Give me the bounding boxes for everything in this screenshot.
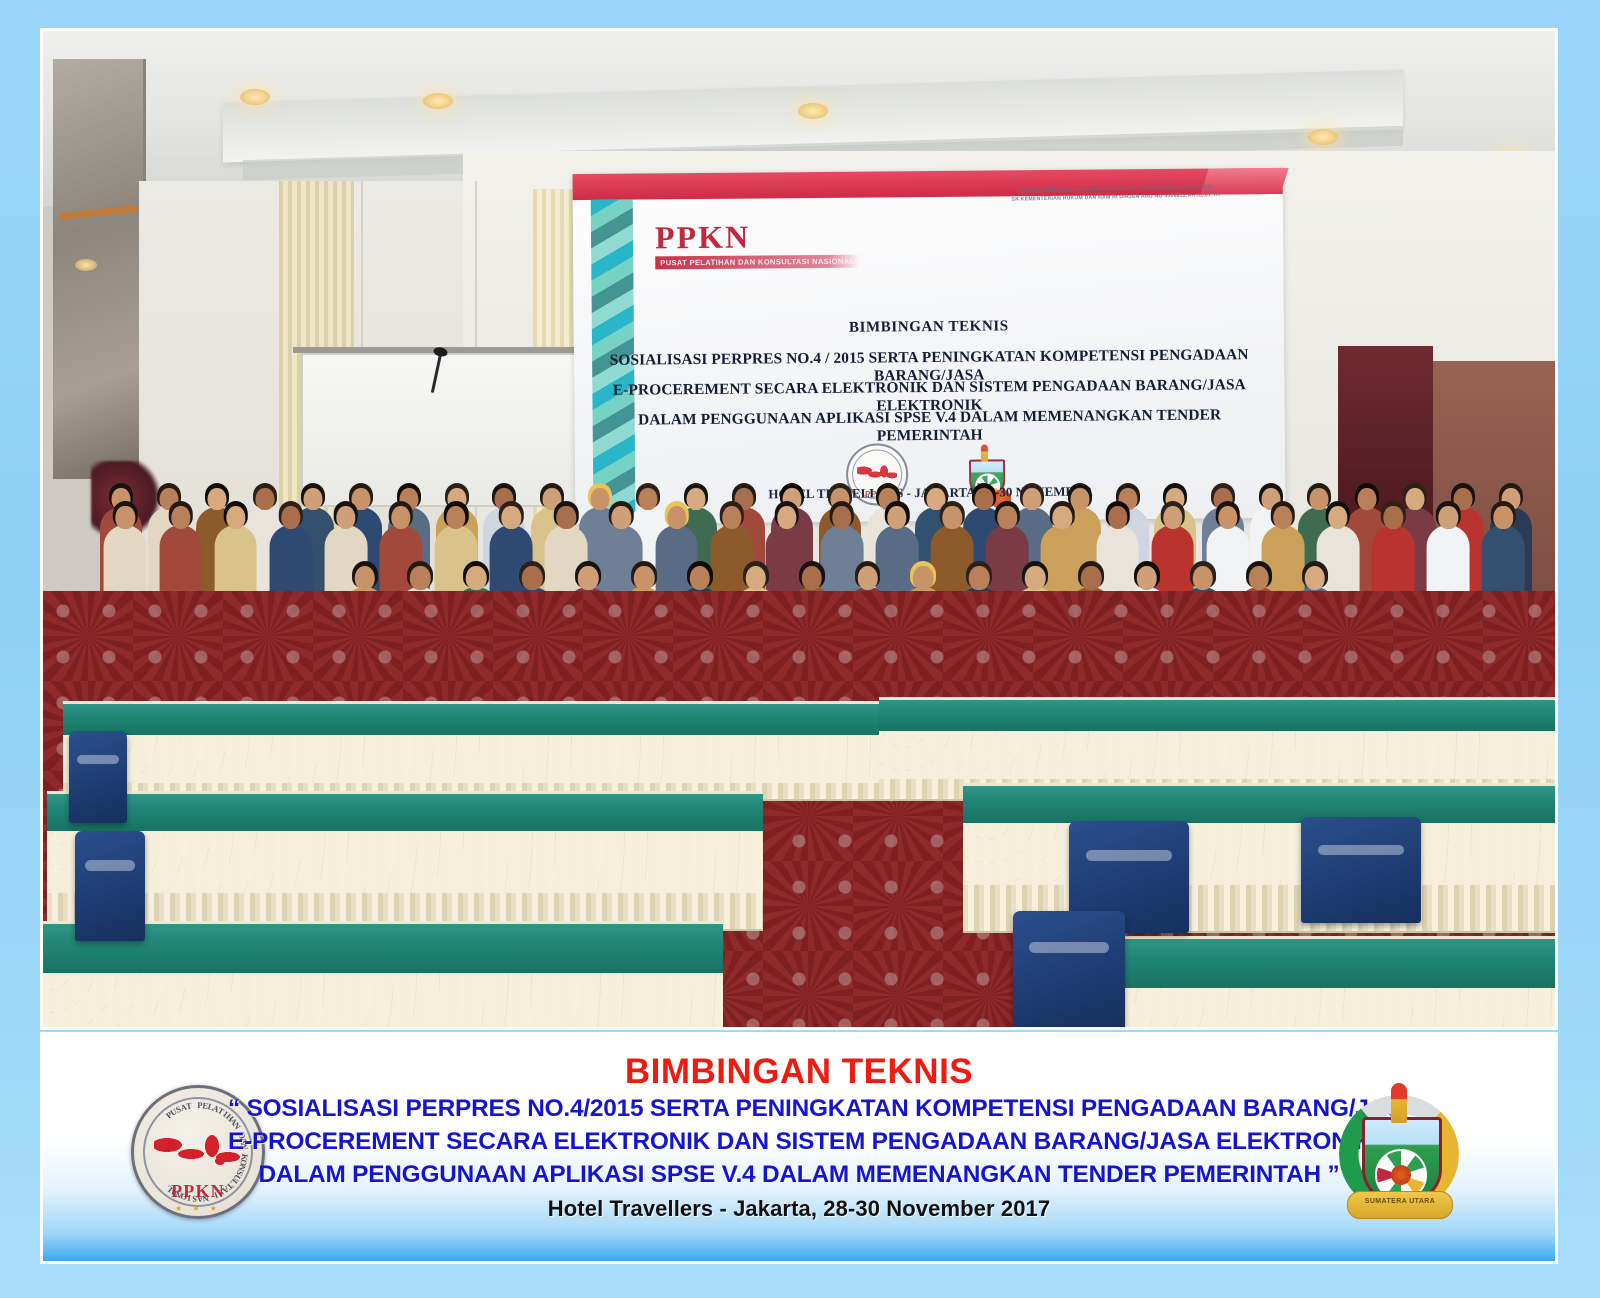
participant-face bbox=[801, 566, 822, 590]
caption-text-block: BIMBINGAN TEKNIS “ SOSIALISASI PERPRES N… bbox=[228, 1053, 1370, 1222]
participant-face bbox=[690, 566, 711, 590]
caption-panel: PUSAT PELATIHAN DAN KONSULTASI NASIONAL … bbox=[40, 1032, 1558, 1264]
participant-face bbox=[1081, 566, 1102, 590]
participant-face bbox=[466, 566, 487, 590]
chair bbox=[1301, 817, 1421, 923]
participant-face bbox=[522, 566, 543, 590]
participant-face bbox=[969, 566, 990, 590]
chair bbox=[1013, 911, 1125, 1029]
crest-scroll-text: SUMATERA UTARA bbox=[1348, 1198, 1452, 1205]
participant-face bbox=[746, 566, 767, 590]
torch-icon bbox=[1391, 1083, 1407, 1123]
crest-scroll: SUMATERA UTARA bbox=[1347, 1191, 1453, 1219]
participant-face bbox=[857, 566, 878, 590]
participant-face bbox=[410, 566, 431, 590]
participant-face bbox=[1304, 566, 1325, 590]
sumut-logo: SUMATERA UTARA bbox=[1331, 1079, 1467, 1221]
caption-line-2: E-PROCEREMENT SECARA ELEKTRONIK DAN SIST… bbox=[228, 1125, 1370, 1158]
participant-face bbox=[1193, 566, 1214, 590]
participant-face bbox=[1137, 566, 1158, 590]
caption-title: BIMBINGAN TEKNIS bbox=[228, 1053, 1370, 1092]
participant-face bbox=[913, 566, 934, 590]
chair bbox=[69, 731, 127, 823]
participant-face bbox=[354, 566, 375, 590]
chair bbox=[75, 831, 145, 941]
participant-face bbox=[1025, 566, 1046, 590]
table-row-2 bbox=[47, 791, 763, 931]
participant-face bbox=[578, 566, 599, 590]
table-row-1 bbox=[63, 701, 879, 801]
poster-frame: PPKN PUSAT PELATIHAN DAN KONSULTASI NASI… bbox=[0, 0, 1600, 1298]
sumut-crest-icon-large: SUMATERA UTARA bbox=[1331, 1079, 1467, 1221]
caption-line-3: DALAM PENGGUNAAN APLIKASI SPSE V.4 DALAM… bbox=[228, 1158, 1370, 1191]
caption-line-1: “ SOSIALISASI PERPRES NO.4/2015 SERTA PE… bbox=[228, 1092, 1370, 1125]
caption-subtitle: Hotel Travellers - Jakarta, 28-30 Novemb… bbox=[228, 1196, 1370, 1222]
event-photograph: PPKN PUSAT PELATIHAN DAN KONSULTASI NASI… bbox=[40, 28, 1558, 1030]
participant-face bbox=[1248, 566, 1269, 590]
participant-face bbox=[634, 566, 655, 590]
